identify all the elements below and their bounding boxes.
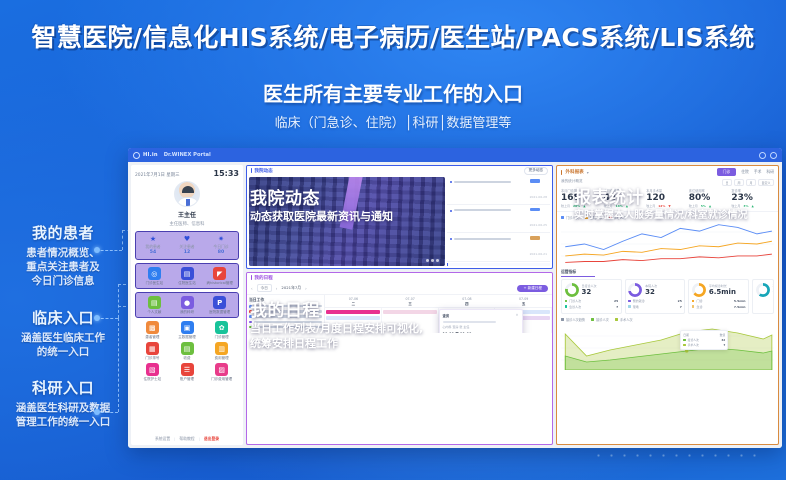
app-icon-grid: ▩ 患者管理 ▣ 主数据管理 ✿ 门诊管理 ▦ 门诊排号 — [135, 321, 239, 384]
billing-icon: ▤ — [181, 342, 194, 355]
kpi-value: 80% — [689, 193, 732, 204]
icon-label: 患者管理 — [135, 336, 170, 340]
legend-item: 门诊人次 — [561, 215, 579, 220]
donut-gauge-icon — [692, 283, 706, 297]
avatar[interactable] — [174, 181, 200, 207]
popup-time: 10:00 至 11:00 — [443, 332, 519, 333]
legend-item: 接诊人次 — [591, 317, 609, 322]
kpi-delta: 20% — [573, 204, 580, 208]
kpi-outpatient-volume: 本月门诊量 168 较上月20%▲ — [561, 188, 604, 208]
week-calendar[interactable]: 07-06 二 07-07 三 07-08 四 — [325, 295, 552, 333]
icon-label: 门诊管理 — [204, 336, 239, 340]
report-card-title: 外科报表 — [565, 169, 583, 175]
gauge-detail-row: 急诊人次7 — [565, 305, 619, 309]
queue-icon: ▦ — [146, 342, 159, 355]
icon-row: ▤ 个人文献 ● 我的科研 P 医院数据管理 — [138, 296, 236, 314]
app-icon-outpatient-queue[interactable]: ▦ 门诊排号 — [135, 342, 170, 360]
tab-outpatient[interactable]: 门诊 — [717, 168, 737, 176]
schedule-event-popup[interactable]: 查房 ✕ 心内科 查房 张 主任 10:00 至 11:00 参与医生：张俊明 … — [439, 309, 523, 333]
gauge-label: 平均就诊时长 — [773, 284, 775, 288]
icon-row: ▦ 门诊排号 ▤ 收费 ▥ 费用管理 — [135, 342, 239, 360]
app-icon-record-management[interactable]: ◤ 病historical管理 — [203, 267, 236, 285]
tooltip-row: 手术人次7 — [683, 343, 725, 347]
stat-value: 12 — [170, 250, 204, 255]
app-icon-master-data[interactable]: ▣ 主数据管理 — [170, 321, 205, 339]
schedule-card: 我的日程 ‹ 今日 › 2021年7月 › + 新建日程 当日工作 — [246, 272, 553, 445]
current-date: 2021年7月1日 星期三 — [135, 172, 180, 178]
kpi-value: 23% — [731, 193, 774, 204]
legend-item: 接诊人次趋势 — [561, 317, 585, 322]
app-icon-fee-management[interactable]: ▥ 费用管理 — [204, 342, 239, 360]
list-item[interactable]: 2021-06-25 — [447, 206, 550, 234]
legend-item: 手术人次 — [615, 317, 633, 322]
schedule-card-title: 我的日程 — [254, 275, 272, 281]
gauge-detail-row: 急诊7.5min — [692, 305, 746, 309]
today-button[interactable]: 今日 — [257, 284, 272, 292]
gauge-label: 本院人次 — [645, 284, 657, 288]
app-icon-inpatient-station[interactable]: ▤ 住院医生站 — [171, 267, 204, 285]
stat-my-patients[interactable]: ★ 我的患者 54 — [136, 235, 170, 256]
app-icon-billing[interactable]: ▤ 收费 — [170, 342, 205, 360]
user-name: 王主任 — [135, 210, 239, 219]
app-icon-outpatient-management[interactable]: ✿ 门诊管理 — [204, 321, 239, 339]
day-column-header: 07-06 二 — [325, 295, 382, 307]
stat-followed-patients[interactable]: ♥ 关注患者 12 — [170, 235, 204, 256]
list-item[interactable] — [249, 315, 322, 318]
list-item[interactable] — [249, 305, 322, 308]
kpi-delta: 3% — [743, 204, 748, 208]
icon-label: 病historical管理 — [203, 282, 236, 286]
gauge-value: 6.5min — [709, 288, 736, 296]
schedule-toolbar: ‹ 今日 › 2021年7月 › + 新建日程 — [247, 282, 552, 295]
stat-value: 80 — [204, 250, 238, 255]
center-column: 我院动态 更多动态 2021-06-28 — [246, 165, 553, 445]
document-icon: ▤ — [148, 296, 161, 309]
gauge-row: 日接诊人次 32 门诊人次25 急诊人次7 本院人次 32 — [557, 279, 778, 314]
icon-label: 门诊费用管理 — [204, 378, 239, 382]
news-card: 我院动态 更多动态 2021-06-28 — [246, 165, 553, 269]
app-icon-data-management[interactable]: P 医院数据管理 — [203, 296, 236, 314]
icon-label: 收费 — [170, 357, 205, 361]
gear-icon: ✷ — [204, 235, 238, 243]
clinical-entry-box[interactable]: ◎ 门诊医生站 ▤ 住院医生站 ◤ 病historical管理 — [135, 263, 239, 289]
icon-row: ▩ 患者管理 ▣ 主数据管理 ✿ 门诊管理 — [135, 321, 239, 339]
patient-stats-box[interactable]: ★ 我的患者 54 ♥ 关注患者 12 ✷ 今日门诊 80 — [135, 231, 239, 261]
news-card-header: 我院动态 更多动态 — [247, 166, 552, 175]
app-icon-personal-literature[interactable]: ▤ 个人文献 — [138, 296, 171, 314]
donut-gauge-icon — [756, 283, 770, 297]
kpi-inpatient-volume: 本月住院量 48 较上月16%▲ — [604, 188, 647, 208]
kpi-foot: 较上月 — [731, 204, 740, 208]
popup-meta-primary: 心内科 查房 张 主任 — [443, 325, 519, 329]
gauge-daily-visits: 日接诊人次 32 门诊人次25 急诊人次7 — [561, 279, 622, 314]
app-icon-patient-management[interactable]: ▩ 患者管理 — [135, 321, 170, 339]
stat-label: 今日门诊 — [204, 244, 238, 250]
list-item[interactable] — [249, 321, 322, 324]
kpi-foot: 较上月 — [646, 204, 655, 208]
kpi-foot: 较上月 — [689, 204, 698, 208]
header-accent-bar — [251, 275, 252, 280]
calendar-cell[interactable] — [382, 308, 439, 333]
calendar-cell[interactable] — [325, 308, 382, 333]
today-task-title: 当日工作 — [249, 297, 322, 303]
list-item[interactable] — [249, 310, 322, 313]
help-icon[interactable] — [759, 152, 766, 159]
kpi-value: 168 — [561, 193, 604, 204]
carousel-dots[interactable] — [426, 259, 439, 262]
stat-value: 54 — [136, 250, 170, 255]
inpatient-station-icon: ▤ — [181, 267, 194, 280]
donut-gauge-icon — [565, 283, 579, 297]
donut-gauge-icon — [628, 283, 642, 297]
list-item[interactable]: 2021-06-21 — [447, 234, 550, 262]
range-chips: 日 周 月 自定义 — [722, 179, 774, 186]
gauge-hospital-visits: 本院人次 32 预约就诊25 现场7 — [625, 279, 686, 314]
gauge-detail-row: 现场7 — [628, 305, 682, 309]
gauge-value: 32 — [645, 288, 657, 296]
prev-icon[interactable]: ‹ — [251, 286, 253, 291]
kpi-delta: 12% — [658, 204, 665, 208]
application-window[interactable]: HI.in Dr.WINEX Portal 2021年7月1日 星期三 15:3… — [128, 148, 782, 448]
kpi-delta: 5% — [701, 204, 706, 208]
bullet-icon — [450, 181, 452, 183]
visits-trend-area-chart: 日期数值 接诊人次32 手术人次7 — [561, 326, 774, 370]
area-chart-legend: 接诊人次趋势 接诊人次 手术人次 — [557, 314, 778, 323]
kpi-bed-usage: 床位使用率 80% 较上月5%▲ — [689, 188, 732, 208]
app-icon-outpatient-station[interactable]: ◎ 门诊医生站 — [138, 267, 171, 285]
stat-today-outpatient[interactable]: ✷ 今日门诊 80 — [204, 235, 238, 256]
tooltip-row: 接诊人次32 — [683, 338, 725, 342]
kpi-row: 本月门诊量 168 较上月20%▲ 本月住院量 48 较上月16%▲ 本月手术量… — [557, 186, 778, 212]
fee-management-icon: ▥ — [215, 342, 228, 355]
schedule-card-header: 我的日程 — [247, 273, 552, 282]
news-card-title: 我院动态 — [254, 168, 272, 174]
slide-subhead-secondary: 临床（门急诊、住院）│科研│数据管理等 — [0, 112, 786, 131]
tab-research[interactable]: 科研 — [766, 169, 774, 175]
chart-tooltip: 日期数值 接诊人次32 手术人次7 — [680, 330, 728, 350]
icon-label: 门诊排号 — [135, 357, 170, 361]
brand-product-name: Dr.WINEX Portal — [164, 152, 211, 158]
outpatient-station-icon: ◎ — [148, 267, 161, 280]
header-accent-bar — [561, 170, 562, 175]
icon-label: 住院医生站 — [171, 282, 204, 286]
user-role: 主任医师、信息科 — [135, 221, 239, 227]
legend-item: 住院人次 — [585, 215, 603, 220]
titlebar-actions — [759, 152, 777, 159]
next-icon[interactable]: › — [276, 286, 278, 291]
day-column-header: 07-09 五 — [495, 295, 552, 307]
kpi-value: 48 — [604, 193, 647, 204]
icon-row: ◎ 门诊医生站 ▤ 住院医生站 ◤ 病historical管理 — [138, 267, 236, 285]
report-card: 外科报表 ▾ 门诊 住院 手术 科研 我的统计概览 日 周 月 自定义 — [556, 165, 779, 445]
icon-row: ▧ 住院护士站 ☰ 账户管理 ▨ 门诊费用管理 — [135, 363, 239, 381]
bullet-icon — [450, 210, 452, 212]
tab-surgery[interactable]: 手术 — [754, 169, 762, 175]
gauge-value: 32 — [582, 288, 597, 296]
kpi-foot: 较上月 — [604, 204, 613, 208]
stat-label: 我的患者 — [136, 244, 170, 250]
icon-label: 个人文献 — [138, 311, 171, 315]
list-item[interactable]: 2021-06-18 — [447, 263, 550, 266]
logout-link[interactable]: 退出登录 — [204, 436, 219, 442]
news-more-button[interactable]: 更多动态 — [524, 167, 548, 175]
icon-label: 我的科研 — [171, 311, 204, 315]
brand-logo-icon — [133, 152, 140, 159]
schedule-grid: 当日工作 07-06 二 — [247, 295, 552, 333]
patient-management-icon: ▩ — [146, 321, 159, 334]
app-icon-outpatient-fee[interactable]: ▨ 门诊费用管理 — [204, 363, 239, 381]
brand-name: HI.in — [143, 152, 158, 158]
user-icon[interactable] — [770, 152, 777, 159]
report-card-header: 外科报表 ▾ 门诊 住院 手术 科研 — [557, 166, 778, 178]
slide-headline: 智慧医院/信息化HIS系统/电子病历/医生站/PACS系统/LIS系统 — [0, 18, 786, 54]
app-content: 2021年7月1日 星期三 15:33 王主任 主任医师、信息科 ★ 我的患者 … — [128, 162, 782, 448]
kpi-revisit-rate: 复诊率 23% 较上月3%▲ — [731, 188, 774, 208]
report-subtitle: 我的统计概览 — [561, 179, 583, 186]
kpi-value: 120 — [646, 193, 689, 204]
icon-label: 医院数据管理 — [203, 311, 236, 315]
current-time: 15:33 — [214, 169, 239, 178]
profile-datetime: 2021年7月1日 星期三 15:33 — [135, 169, 239, 178]
master-data-icon: ▣ — [181, 321, 194, 334]
popup-title: 查房 — [443, 313, 450, 318]
report-subtitle-row: 我的统计概览 日 周 月 自定义 — [557, 179, 778, 186]
profile-panel: 2021年7月1日 星期三 15:33 王主任 主任医师、信息科 ★ 我的患者 … — [131, 165, 243, 445]
kpi-delta: 16% — [616, 204, 623, 208]
tab-inpatient[interactable]: 住院 — [741, 169, 749, 175]
day-column-header: 07-08 四 — [439, 295, 496, 307]
header-accent-bar — [251, 168, 252, 173]
icon-label: 账户管理 — [170, 378, 205, 382]
gauge-label: 日接诊人次 — [582, 284, 597, 288]
range-month[interactable]: 月 — [746, 179, 756, 186]
settings-link[interactable]: 系统设置 — [155, 436, 170, 442]
section-accent-bar — [561, 276, 595, 277]
star-icon: ★ — [136, 235, 170, 243]
icon-label: 主数据管理 — [170, 336, 205, 340]
profile-footer-links: 系统设置 | 帮助教程 | 退出登录 — [135, 436, 239, 443]
news-card-body: 2021-06-28 2021-06-25 2021-06-21 — [247, 175, 552, 268]
kpi-surgery-volume: 本月手术量 120 较上月12%▼ — [646, 188, 689, 208]
outpatient-management-icon: ✿ — [215, 321, 228, 334]
app-icon-nurse-station[interactable]: ▧ 住院护士站 — [135, 363, 170, 381]
operations-section-title: 运营指标 — [557, 267, 778, 276]
range-custom[interactable]: 自定义 — [758, 179, 774, 186]
gauge-detail-row: 门诊5.5min — [692, 299, 746, 303]
gauge-avg-visit-time: 平均就诊时长 6.5 — [752, 279, 774, 314]
new-schedule-button[interactable]: + 新建日程 — [517, 285, 548, 292]
popup-header: 查房 ✕ — [443, 313, 519, 318]
research-entry-box[interactable]: ▤ 个人文献 ● 我的科研 P 医院数据管理 — [135, 292, 239, 318]
icon-label: 住院护士站 — [135, 378, 170, 382]
line-chart-legend: 门诊人次 住院人次 手术人次 — [557, 212, 778, 221]
account-management-icon: ☰ — [181, 363, 194, 376]
calendar-header: 07-06 二 07-07 三 07-08 四 — [325, 295, 552, 308]
today-task-list: 当日工作 — [247, 295, 325, 333]
gauge-detail-row: 预约就诊25 — [628, 299, 682, 303]
app-icon-my-research[interactable]: ● 我的科研 — [171, 296, 204, 314]
range-day[interactable]: 日 — [722, 179, 732, 186]
gauge-detail-row: 门诊人次25 — [565, 299, 619, 303]
gauge-value: 6.5 — [773, 288, 775, 296]
heart-icon: ♥ — [170, 235, 204, 243]
app-icon-account-management[interactable]: ☰ 账户管理 — [170, 363, 205, 381]
app-titlebar: HI.in Dr.WINEX Portal — [128, 148, 782, 162]
report-tabs: 门诊 住院 手术 科研 — [717, 168, 774, 176]
gauge-avg-wait-time: 平均候诊时长 6.5min 门诊5.5min 急诊7.5min — [688, 279, 749, 314]
list-item[interactable] — [249, 326, 322, 329]
nurse-station-icon: ▧ — [146, 363, 159, 376]
data-management-icon: P — [213, 296, 226, 309]
volume-trend-line-chart — [561, 221, 774, 267]
legend-item: 手术人次 — [609, 215, 627, 220]
list-item[interactable]: 2021-06-28 — [447, 177, 550, 205]
month-next-icon[interactable]: › — [305, 286, 307, 291]
close-icon[interactable]: ✕ — [516, 313, 519, 318]
chevron-down-icon[interactable]: ▾ — [587, 170, 589, 175]
range-week[interactable]: 周 — [734, 179, 744, 186]
stat-label: 关注患者 — [170, 244, 204, 250]
icon-label: 费用管理 — [204, 357, 239, 361]
slide-subhead: 医生所有主要专业工作的入口 — [0, 78, 786, 107]
research-icon: ● — [181, 296, 194, 309]
bullet-icon — [450, 238, 452, 240]
icon-label: 门诊医生站 — [138, 282, 171, 286]
news-list: 2021-06-28 2021-06-25 2021-06-21 — [447, 177, 550, 266]
help-link[interactable]: 帮助教程 — [179, 436, 194, 442]
news-hero-image — [249, 177, 445, 266]
kpi-foot: 较上月 — [561, 204, 570, 208]
day-column-header: 07-07 三 — [382, 295, 439, 307]
record-management-icon: ◤ — [213, 267, 226, 280]
outpatient-fee-icon: ▨ — [215, 363, 228, 376]
current-month: 2021年7月 — [281, 285, 301, 291]
